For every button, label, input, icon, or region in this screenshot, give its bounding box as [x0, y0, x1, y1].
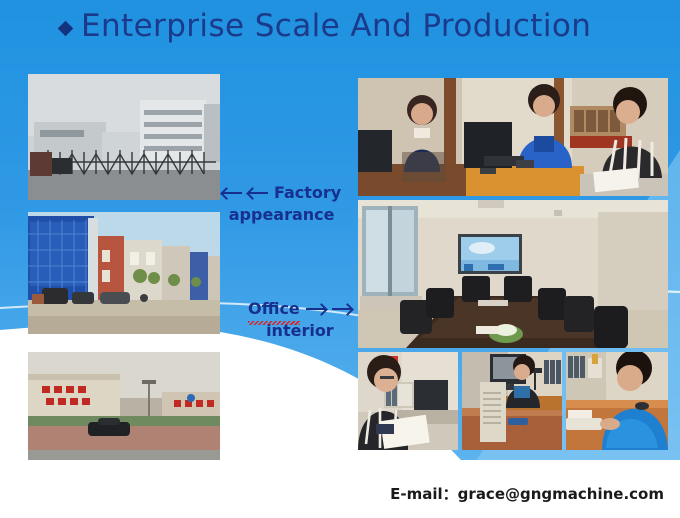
photo-factory-yard	[28, 352, 220, 470]
diamond-bullet-icon	[58, 20, 74, 36]
arrow-right-icon-1	[306, 303, 326, 315]
slide-canvas: Enterprise Scale And Production	[0, 0, 680, 518]
page-title: Enterprise Scale And Production	[81, 8, 591, 44]
annotation-factory-line1: Factory	[274, 182, 341, 204]
contact-email: E-mail：grace@gngmachine.com	[390, 483, 664, 504]
annotation-factory-appearance: Factory appearance	[222, 182, 341, 226]
photo-desk-man-blue	[566, 352, 668, 450]
slide-title: Enterprise Scale And Production	[60, 8, 591, 44]
arrow-left-icon-1	[222, 187, 242, 199]
annotation-office-interior: Office interior	[248, 298, 352, 342]
arrow-right-icon-2	[332, 303, 352, 315]
photo-meeting-room	[358, 200, 668, 348]
photo-factory-street	[28, 212, 220, 334]
photo-desk-woman-computer	[462, 352, 562, 450]
photo-factory-gate	[28, 74, 220, 200]
arrow-left-icon-2	[248, 187, 268, 199]
photo-desk-woman-documents	[358, 352, 458, 450]
photo-office-staff	[358, 78, 668, 196]
annotation-factory-line2: appearance	[222, 204, 341, 226]
annotation-office-line1: Office	[248, 298, 300, 320]
